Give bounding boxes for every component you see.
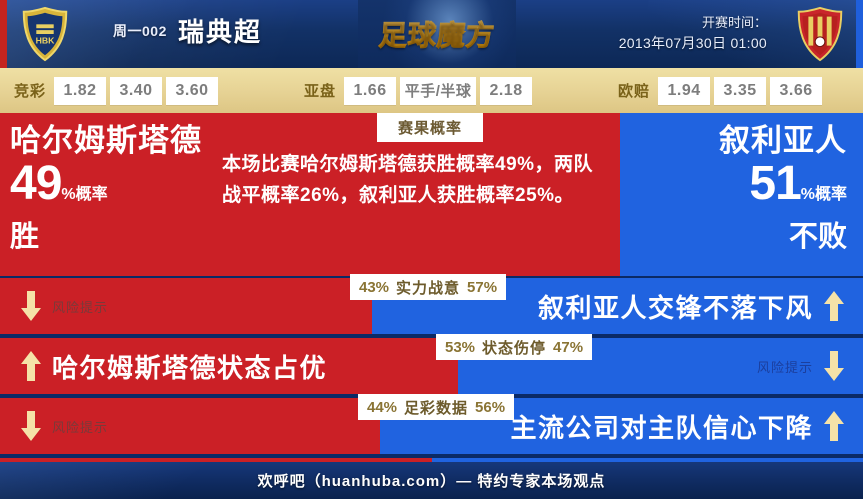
row-metric-tag: 44% 足彩数据 56% [358, 394, 514, 420]
comparison-row: 44% 足彩数据 56% 风险提示 主流公司对主队信心下降 [0, 398, 863, 454]
odds-group-oupei: 欧赔 1.94 3.35 3.66 [618, 77, 826, 105]
arrow-up-icon [20, 349, 42, 383]
odds-bar: 竞彩 1.82 3.40 3.60 亚盘 1.66 平手/半球 2.18 欧赔 … [0, 68, 863, 113]
odds-oupei-home[interactable]: 1.94 [658, 77, 710, 105]
footer-credit: 欢呼吧（huanhuba.com）— 特约专家本场观点 [258, 470, 606, 491]
row-left-label: 哈尔姆斯塔德状态占优 [52, 348, 327, 385]
odds-group-jingcai: 竞彩 1.82 3.40 3.60 [14, 77, 222, 105]
odds-group-yapan: 亚盘 1.66 平手/半球 2.18 [304, 77, 536, 105]
odds-label-oupei: 欧赔 [618, 80, 650, 101]
brand-logo: 足球魔方 [358, 0, 516, 68]
odds-jingcai-home[interactable]: 1.82 [54, 77, 106, 105]
probability-panel: 哈尔姆斯塔德 49%概率 胜 叙利亚人 51%概率 不败 赛果概率 本场比赛哈尔… [0, 113, 863, 276]
row-right-label: 主流公司对主队信心下降 [510, 408, 813, 445]
row-home-percent: 44% [367, 399, 397, 416]
home-probability-unit: %概率 [61, 186, 107, 203]
brand-logo-text: 足球魔方 [378, 14, 497, 54]
odds-oupei-draw[interactable]: 3.35 [714, 77, 766, 105]
arrow-down-icon [823, 349, 845, 383]
match-number: 周一002 [113, 21, 167, 41]
away-probability-block: 叙利亚人 51%概率 不败 [632, 123, 847, 254]
row-right-content: 主流公司对主队信心下降 [510, 398, 845, 454]
league-name: 瑞典超 [178, 12, 262, 49]
away-probability-outcome: 不败 [632, 220, 847, 254]
odds-jingcai-away[interactable]: 3.60 [166, 77, 218, 105]
row-left-label: 风险提示 [52, 297, 108, 316]
footer-bar: 欢呼吧（huanhuba.com）— 特约专家本场观点 [0, 462, 863, 499]
comparison-row: 53% 状态伤停 47% 哈尔姆斯塔德状态占优 风险提示 [0, 338, 863, 394]
away-probability-unit: %概率 [801, 186, 847, 203]
row-away-percent: 47% [553, 339, 583, 356]
kickoff-time: 开赛时间： 2013年07月30日 01:00 [619, 12, 767, 54]
odds-yapan-handicap[interactable]: 平手/半球 [400, 77, 476, 105]
arrow-down-icon [20, 289, 42, 323]
row-left-label: 风险提示 [52, 417, 108, 436]
kickoff-label: 开赛时间： [619, 12, 767, 33]
arrow-up-icon [823, 409, 845, 443]
row-home-percent: 53% [445, 339, 475, 356]
row-left-content: 风险提示 [20, 398, 108, 454]
arrow-down-icon [20, 409, 42, 443]
row-metric-tag: 43% 实力战意 57% [350, 274, 506, 300]
row-right-label: 风险提示 [757, 357, 813, 376]
row-right-label: 叙利亚人交锋不落下风 [538, 288, 813, 325]
home-probability-block: 哈尔姆斯塔德 49%概率 胜 [10, 123, 235, 254]
odds-label-jingcai: 竞彩 [14, 80, 46, 101]
match-analysis-infographic: HBK 周一002 瑞典超 足球魔方 开赛时间： 2013年07月30日 01:… [0, 0, 863, 499]
home-probability-value: 49%概率 [10, 159, 235, 220]
probability-description: 本场比赛哈尔姆斯塔德获胜概率49%，两队战平概率26%，叙利亚人获胜概率25%。 [222, 149, 612, 211]
odds-label-yapan: 亚盘 [304, 80, 336, 101]
svg-text:HBK: HBK [36, 36, 56, 46]
row-left-content: 哈尔姆斯塔德状态占优 [20, 338, 327, 394]
odds-oupei-away[interactable]: 3.66 [770, 77, 822, 105]
row-away-percent: 57% [467, 279, 497, 296]
row-home-percent: 43% [359, 279, 389, 296]
row-metric-name: 实力战意 [396, 277, 460, 298]
home-team-crest-icon: HBK [16, 5, 74, 63]
row-metric-tag: 53% 状态伤停 47% [436, 334, 592, 360]
odds-jingcai-draw[interactable]: 3.40 [110, 77, 162, 105]
odds-yapan-home[interactable]: 1.66 [344, 77, 396, 105]
home-team-name: 哈尔姆斯塔德 [10, 123, 235, 159]
arrow-up-icon [823, 289, 845, 323]
away-probability-value: 51%概率 [632, 159, 847, 220]
comparison-rows: 43% 实力战意 57% 风险提示 叙利亚人交锋不落下风 53% 状态伤停 47… [0, 276, 863, 462]
probability-section-title: 赛果概率 [377, 113, 483, 142]
row-metric-name: 足彩数据 [404, 397, 468, 418]
header-right-blue-edge [856, 0, 863, 68]
comparison-row: 43% 实力战意 57% 风险提示 叙利亚人交锋不落下风 [0, 278, 863, 334]
header-bar: HBK 周一002 瑞典超 足球魔方 开赛时间： 2013年07月30日 01:… [0, 0, 863, 68]
away-team-name: 叙利亚人 [632, 123, 847, 159]
row-left-content: 风险提示 [20, 278, 108, 334]
odds-yapan-away[interactable]: 2.18 [480, 77, 532, 105]
away-team-crest-icon [791, 5, 849, 63]
row-right-content: 风险提示 [757, 338, 845, 394]
header-left-red-edge [0, 0, 7, 68]
row-right-content: 叙利亚人交锋不落下风 [538, 278, 845, 334]
home-probability-outcome: 胜 [10, 220, 235, 254]
row-metric-name: 状态伤停 [482, 337, 546, 358]
kickoff-value: 2013年07月30日 01:00 [619, 33, 767, 54]
row-away-percent: 56% [475, 399, 505, 416]
